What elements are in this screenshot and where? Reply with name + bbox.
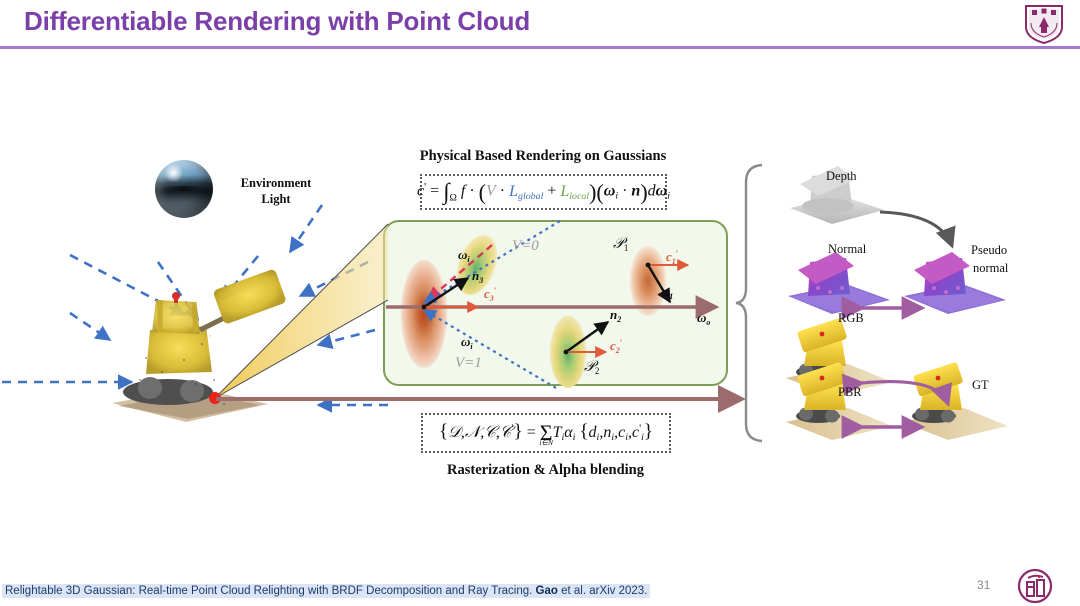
- render-pseudo-normal-label-line2: normal: [973, 261, 1008, 276]
- label-n1: n1: [662, 284, 673, 301]
- environment-light-label-line1: Environment: [228, 176, 324, 192]
- gaussian-blob-p1: [630, 246, 666, 316]
- label-omega-o: ωo: [697, 310, 710, 327]
- rasterization-formula-text: {𝒟,𝒩,𝒞,𝒞'} = Σi∈NTiαi {di,ni,ci,c'i}: [439, 422, 653, 444]
- page-number: 31: [977, 578, 990, 592]
- label-c3: c3': [484, 286, 496, 303]
- page-title: Differentiable Rendering with Point Clou…: [24, 6, 530, 37]
- reference-author: Gao: [536, 585, 558, 597]
- render-normal-thumb: [788, 252, 890, 314]
- rasterization-heading: Rasterization & Alpha blending: [398, 462, 693, 479]
- slide-root: Differentiable Rendering with Point Clou…: [0, 0, 1080, 606]
- pbr-formula-box: c' = ∫Ω f · (V · Lglobal + Llocal)(ωi · …: [420, 174, 667, 210]
- university-crest-icon: [1022, 3, 1066, 45]
- rgb-gt-arrow: [862, 382, 948, 404]
- render-depth-label: Depth: [826, 169, 857, 184]
- reference-suffix: et al. arXiv 2023.: [558, 585, 648, 597]
- label-omega-i-bottom: ωi: [461, 334, 473, 351]
- reference-citation: Relightable 3D Gaussian: Real-time Point…: [2, 584, 650, 598]
- render-pbr-label: PBR: [838, 385, 862, 400]
- label-n3: n3: [472, 268, 483, 285]
- label-p2: 𝒫2: [584, 358, 599, 376]
- environment-light-label: Environment Light: [228, 176, 324, 207]
- label-n2: n2: [610, 307, 621, 324]
- label-v1: V=1: [455, 355, 482, 372]
- gaussian-blob-main: [401, 260, 447, 368]
- title-divider: [0, 46, 1080, 49]
- label-c1: c1': [666, 249, 678, 266]
- render-gt-thumb: [902, 362, 1008, 440]
- environment-light-label-line2: Light: [228, 192, 324, 208]
- render-gt-label: GT: [972, 378, 989, 393]
- label-v0: V=0: [512, 238, 539, 255]
- environment-light-sphere: [155, 160, 213, 218]
- env-light-rays: [2, 205, 388, 405]
- rasterization-formula-box: {𝒟,𝒩,𝒞,𝒞'} = Σi∈NTiαi {di,ni,ci,c'i}: [421, 413, 671, 453]
- label-omega-i-top: ωi: [458, 247, 470, 264]
- render-rgb-label: RGB: [838, 311, 864, 326]
- institute-logo-icon: [1017, 568, 1053, 604]
- view-cone: [215, 224, 388, 398]
- outputs-brace: [736, 165, 762, 441]
- pbr-formula-text: c' = ∫Ω f · (V · Lglobal + Llocal)(ωi · …: [417, 180, 670, 203]
- reference-prefix: Relightable 3D Gaussian: Real-time Point…: [5, 585, 536, 597]
- camera-origin-point: [209, 392, 221, 404]
- pbr-heading: Physical Based Rendering on Gaussians: [398, 148, 688, 165]
- label-c2: c2': [610, 338, 622, 355]
- point-cloud-excavator: [112, 268, 287, 422]
- depth-to-pseudo-arrow: [880, 212, 952, 246]
- render-pseudo-normal-label-line1: Pseudo: [971, 243, 1007, 258]
- gaussian-blob-p2: [550, 316, 586, 388]
- render-pbr-thumb: [786, 362, 892, 440]
- render-normal-label: Normal: [828, 242, 866, 257]
- label-p1: 𝒫1: [613, 235, 628, 253]
